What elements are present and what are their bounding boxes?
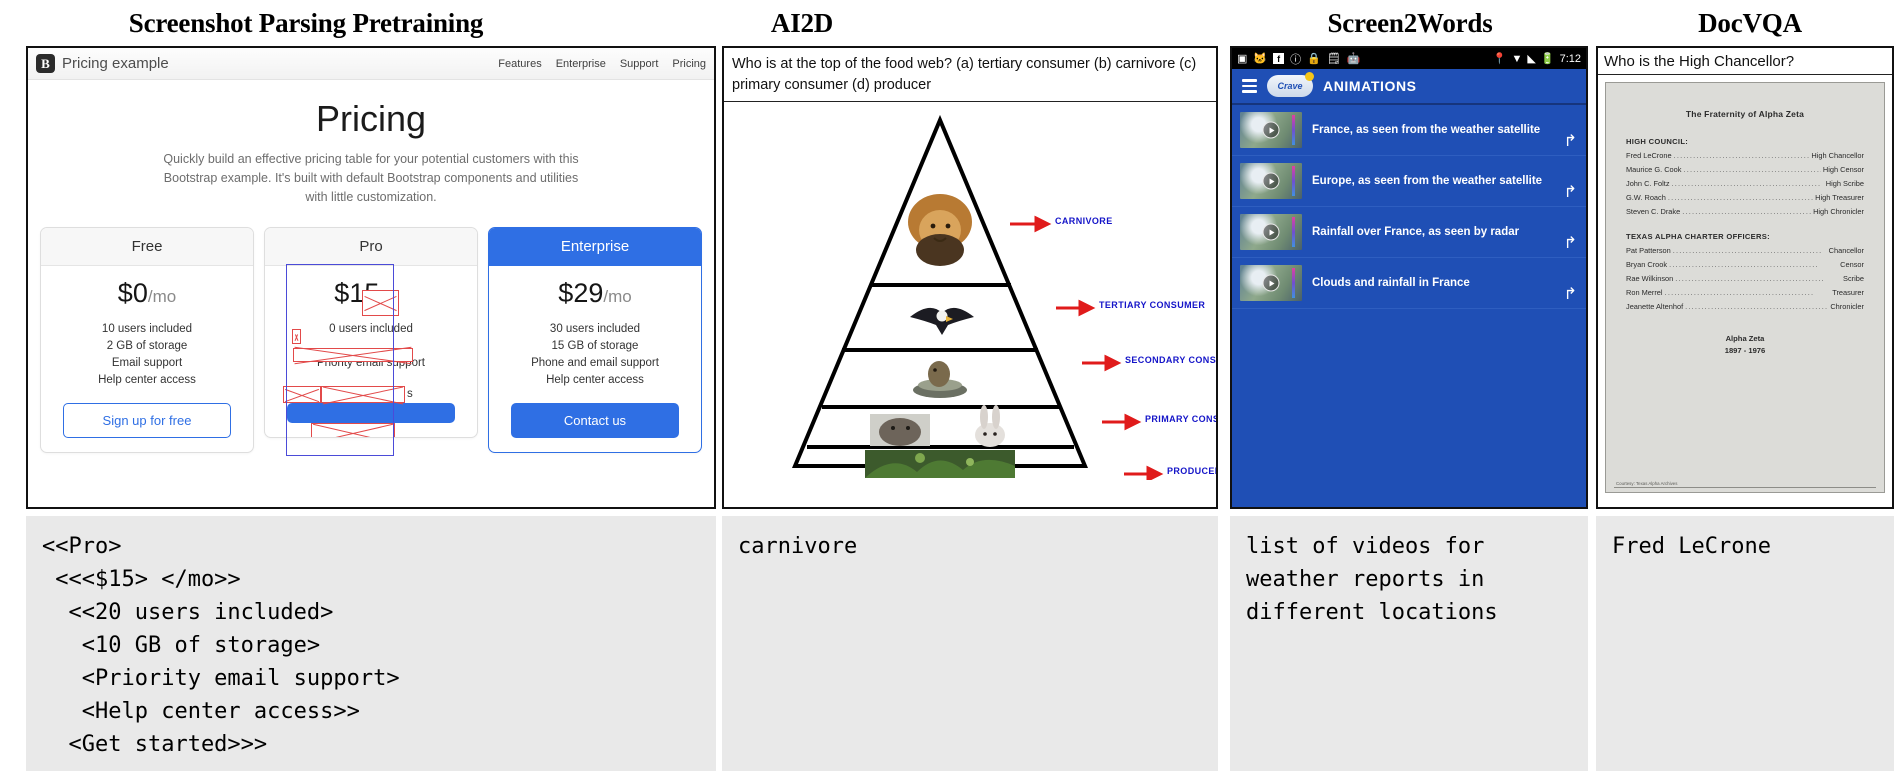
share-icon[interactable]: ↱ [1564, 131, 1577, 151]
column-title-docvqa: DocVQA [1660, 8, 1840, 39]
nav-link-support[interactable]: Support [620, 58, 659, 70]
video-thumbnail[interactable] [1240, 163, 1302, 199]
entry-role: High Treasurer [1815, 193, 1864, 202]
footer-org-name: Alpha Zeta [1626, 333, 1864, 345]
entry-role: High Chronicler [1813, 207, 1864, 216]
document-footer: Alpha Zeta 1897 - 1976 [1626, 333, 1864, 357]
entry-name: Rae Wilkinson [1626, 274, 1673, 283]
entry-name: Maurice G. Cook [1626, 165, 1681, 174]
wifi-icon: ▼ [1512, 53, 1523, 65]
card-title-enterprise: Enterprise [489, 228, 701, 266]
column-title-ai2d: AI2D [722, 8, 882, 39]
video-list-item[interactable]: Rainfall over France, as seen by radar ↱ [1232, 207, 1586, 258]
feature-ent-2: Phone and email support [497, 355, 693, 372]
entry-role: Chancellor [1829, 246, 1864, 255]
video-title: Rainfall over France, as seen by radar [1312, 225, 1578, 240]
document-bottom-rule [1614, 487, 1876, 488]
video-list-item[interactable]: Europe, as seen from the weather satelli… [1232, 156, 1586, 207]
ai2d-panel: Who is at the top of the food web? (a) t… [722, 46, 1218, 509]
video-thumbnail[interactable] [1240, 112, 1302, 148]
nav-link-enterprise[interactable]: Enterprise [556, 58, 606, 70]
play-icon[interactable] [1263, 173, 1280, 190]
entry-role: High Censor [1823, 165, 1864, 174]
label-primary-consumer: PRIMARY CONSUMER [1145, 414, 1218, 424]
pricing-hero: Pricing Quickly build an effective prici… [28, 80, 714, 213]
feature-free-2: Email support [49, 355, 245, 372]
feature-ent-3: Help center access [497, 372, 693, 389]
mask-cta-pro [311, 423, 395, 438]
status-clock: 7:12 [1560, 53, 1581, 65]
pricing-card-free: Free $0/mo 10 users included 2 GB of sto… [40, 227, 254, 453]
leader-dots: ........................................… [1682, 207, 1811, 216]
video-title: Europe, as seen from the weather satelli… [1312, 174, 1578, 189]
bootstrap-navbar: B Pricing example Features Enterprise Su… [28, 48, 714, 80]
status-bar: ▣ 🐱 f ⓘ 🔒 🗒 🤖 📍 ▼ ◣ 🔋 7:12 [1232, 48, 1586, 69]
bootstrap-logo-icon: B [36, 54, 55, 73]
crave-logo-icon: Crave [1267, 75, 1313, 97]
section-title-high-council: HIGH COUNCIL: [1626, 137, 1864, 146]
page-title: Pricing [68, 98, 674, 140]
roster-entry: G.W. Roach..............................… [1626, 193, 1864, 202]
roster-entry: Maurice G. Cook.........................… [1626, 165, 1864, 174]
card-title-free: Free [41, 228, 253, 266]
entry-name: John C. Foltz [1626, 179, 1670, 188]
leader-dots: ........................................… [1685, 302, 1828, 311]
card-body-enterprise: $29/mo 30 users included 15 GB of storag… [489, 266, 701, 452]
pyramid-svg [724, 102, 1218, 480]
video-list-item[interactable]: Clouds and rainfall in France ↱ [1232, 258, 1586, 309]
navbar-brand[interactable]: Pricing example [62, 55, 169, 72]
share-icon[interactable]: ↱ [1564, 182, 1577, 202]
figure-root: Screenshot Parsing Pretraining AI2D Scre… [0, 0, 1896, 782]
app-bar-title: ANIMATIONS [1323, 78, 1417, 94]
entry-role: Censor [1840, 260, 1864, 269]
roster-entry: Rae Wilkinson...........................… [1626, 274, 1864, 283]
document-content: The Fraternity of Alpha Zeta HIGH COUNCI… [1606, 83, 1884, 365]
docvqa-question: Who is the High Chancellor? [1598, 48, 1892, 75]
label-producer: PRODUCER [1167, 466, 1218, 476]
label-secondary-consumer: SECONDARY CONSUMER [1125, 355, 1218, 365]
document-heading: The Fraternity of Alpha Zeta [1626, 109, 1864, 119]
entry-name: Ron Merrel [1626, 288, 1663, 297]
facebook-icon: f [1273, 53, 1284, 64]
entry-name: Bryan Crook [1626, 260, 1667, 269]
android-icon: 🤖 [1347, 52, 1361, 65]
caption-screen2words: list of videos for weather reports in di… [1230, 516, 1588, 771]
label-carnivore: CARNIVORE [1055, 216, 1113, 226]
signal-icon: ◣ [1527, 52, 1535, 65]
pricing-card-enterprise: Enterprise $29/mo 30 users included 15 G… [488, 227, 702, 453]
navbar-links: Features Enterprise Support Pricing [498, 58, 708, 70]
roster-entry: Pat Patterson...........................… [1626, 246, 1864, 255]
info-icon: ⓘ [1290, 51, 1301, 67]
price-free: $0/mo [118, 278, 176, 309]
entry-name: Pat Patterson [1626, 246, 1671, 255]
feature-ent-0: 30 users included [497, 321, 693, 338]
price-period-enterprise: /mo [603, 287, 631, 306]
app-bar: Crave ANIMATIONS [1232, 69, 1586, 105]
mask-storage-line-pro [293, 348, 413, 362]
entry-name: Steven C. Drake [1626, 207, 1680, 216]
leader-dots: ........................................… [1665, 288, 1831, 297]
leader-dots: ........................................… [1673, 246, 1827, 255]
nav-link-pricing[interactable]: Pricing [672, 58, 706, 70]
entry-name: Jeanette Altenhof [1626, 302, 1683, 311]
leader-dots: ........................................… [1669, 260, 1838, 269]
mask-users-digit-pro [292, 329, 301, 344]
feature-ent-1: 15 GB of storage [497, 338, 693, 355]
status-right-icons: 📍 ▼ ◣ 🔋 7:12 [1493, 52, 1581, 65]
video-title: Clouds and rainfall in France [1312, 276, 1578, 291]
play-icon[interactable] [1263, 275, 1280, 292]
crave-logo-dot [1305, 72, 1314, 81]
feature-free-0: 10 users included [49, 321, 245, 338]
leader-dots: ........................................… [1674, 151, 1810, 160]
roster-entry: Jeanette Altenhof.......................… [1626, 302, 1864, 311]
battery-icon: 🔋 [1541, 52, 1555, 65]
hamburger-icon[interactable] [1242, 79, 1257, 92]
card-title-pro: Pro [265, 228, 477, 266]
pricing-cards: Free $0/mo 10 users included 2 GB of sto… [28, 213, 714, 465]
sim-icon: ▣ [1237, 52, 1247, 65]
card-body-free: $0/mo 10 users included 2 GB of storage … [41, 266, 253, 452]
leader-dots: ........................................… [1672, 179, 1824, 188]
nav-link-features[interactable]: Features [498, 58, 541, 70]
entry-role: Scribe [1843, 274, 1864, 283]
column-title-screenshot-parsing: Screenshot Parsing Pretraining [26, 8, 586, 39]
entry-name: Fred LeCrone [1626, 151, 1672, 160]
footer-years: 1897 - 1976 [1626, 345, 1864, 357]
feature-free-1: 2 GB of storage [49, 338, 245, 355]
entry-role: Treasurer [1832, 288, 1864, 297]
signup-free-button[interactable]: Sign up for free [63, 403, 232, 438]
android-phone-screen: ▣ 🐱 f ⓘ 🔒 🗒 🤖 📍 ▼ ◣ 🔋 7:12 [1232, 48, 1586, 507]
video-thumbnail[interactable] [1240, 214, 1302, 250]
mask-price-period-pro [362, 290, 399, 316]
price-enterprise: $29/mo [558, 278, 631, 309]
roster-entry: Steven C. Drake.........................… [1626, 207, 1864, 216]
video-thumbnail[interactable] [1240, 265, 1302, 301]
location-icon: 📍 [1493, 52, 1507, 65]
feature-pro-0-partial: 0 users included [273, 321, 469, 338]
pricing-screenshot-panel: B Pricing example Features Enterprise Su… [26, 46, 716, 509]
rat-illustration [870, 414, 930, 446]
column-title-screen2words: Screen2Words [1300, 8, 1520, 39]
scanned-document: The Fraternity of Alpha Zeta HIGH COUNCI… [1605, 82, 1885, 493]
caption-screenshot-parsing: <<Pro> <<<$15> </mo>> <<20 users include… [26, 516, 716, 771]
food-pyramid-diagram: CARNIVORE TERTIARY CONSUMER SECONDARY CO… [724, 102, 1216, 432]
page-subtitle: Quickly build an effective pricing table… [156, 150, 586, 207]
mask-help-center-b-pro [321, 386, 405, 403]
price-amount-free: $0 [118, 278, 148, 308]
mask-help-center-a-pro [283, 386, 321, 403]
cat-icon: 🐱 [1253, 52, 1267, 65]
plants-illustration [865, 450, 1015, 478]
entry-role: High Chancellor [1811, 151, 1864, 160]
entry-name: G.W. Roach [1626, 193, 1666, 202]
leader-dots: ........................................… [1668, 193, 1813, 202]
docvqa-panel: Who is the High Chancellor? The Fraterni… [1596, 46, 1894, 509]
pricing-card-pro: Pro $15/mo 0 users included Priority ema… [264, 227, 478, 438]
status-left-icons: ▣ 🐱 f ⓘ 🔒 🗒 🤖 [1237, 51, 1360, 67]
lock-icon: 🔒 [1307, 52, 1321, 65]
roster-entry: Bryan Crook.............................… [1626, 260, 1864, 269]
share-icon[interactable]: ↱ [1564, 284, 1577, 304]
lion-illustration [908, 194, 972, 266]
price-period-free: /mo [148, 287, 176, 306]
video-list-item[interactable]: France, as seen from the weather satelli… [1232, 105, 1586, 156]
ai2d-question: Who is at the top of the food web? (a) t… [724, 48, 1216, 102]
play-icon[interactable] [1263, 224, 1280, 241]
clipboard-icon: 🗒 [1327, 52, 1341, 65]
document-tiny-note: Courtesy: Texas Alpha Archives [1616, 481, 1677, 486]
share-icon[interactable]: ↱ [1564, 233, 1577, 253]
play-icon[interactable] [1263, 122, 1280, 139]
leader-dots: ........................................… [1683, 165, 1820, 174]
section-title-texas-alpha: TEXAS ALPHA CHARTER OFFICERS: [1626, 232, 1864, 241]
roster-entry: John C. Foltz...........................… [1626, 179, 1864, 188]
roster-entry: Ron Merrel..............................… [1626, 288, 1864, 297]
entry-role: High Scribe [1826, 179, 1864, 188]
label-tertiary-consumer: TERTIARY CONSUMER [1099, 300, 1205, 310]
feature-free-3: Help center access [49, 372, 245, 389]
crave-logo-text: Crave [1277, 81, 1302, 91]
screen2words-panel: ▣ 🐱 f ⓘ 🔒 🗒 🤖 📍 ▼ ◣ 🔋 7:12 [1230, 46, 1588, 509]
price-amount-enterprise: $29 [558, 278, 603, 308]
feature-pro-3-tail: s [407, 388, 413, 400]
entry-role: Chronicler [1830, 302, 1864, 311]
roster-entry: Fred LeCrone............................… [1626, 151, 1864, 160]
caption-ai2d: carnivore [722, 516, 1218, 771]
leader-dots: ........................................… [1675, 274, 1841, 283]
get-started-pro-button[interactable] [287, 403, 456, 423]
video-title: France, as seen from the weather satelli… [1312, 123, 1578, 138]
contact-us-button[interactable]: Contact us [511, 403, 680, 438]
caption-docvqa: Fred LeCrone [1596, 516, 1894, 771]
